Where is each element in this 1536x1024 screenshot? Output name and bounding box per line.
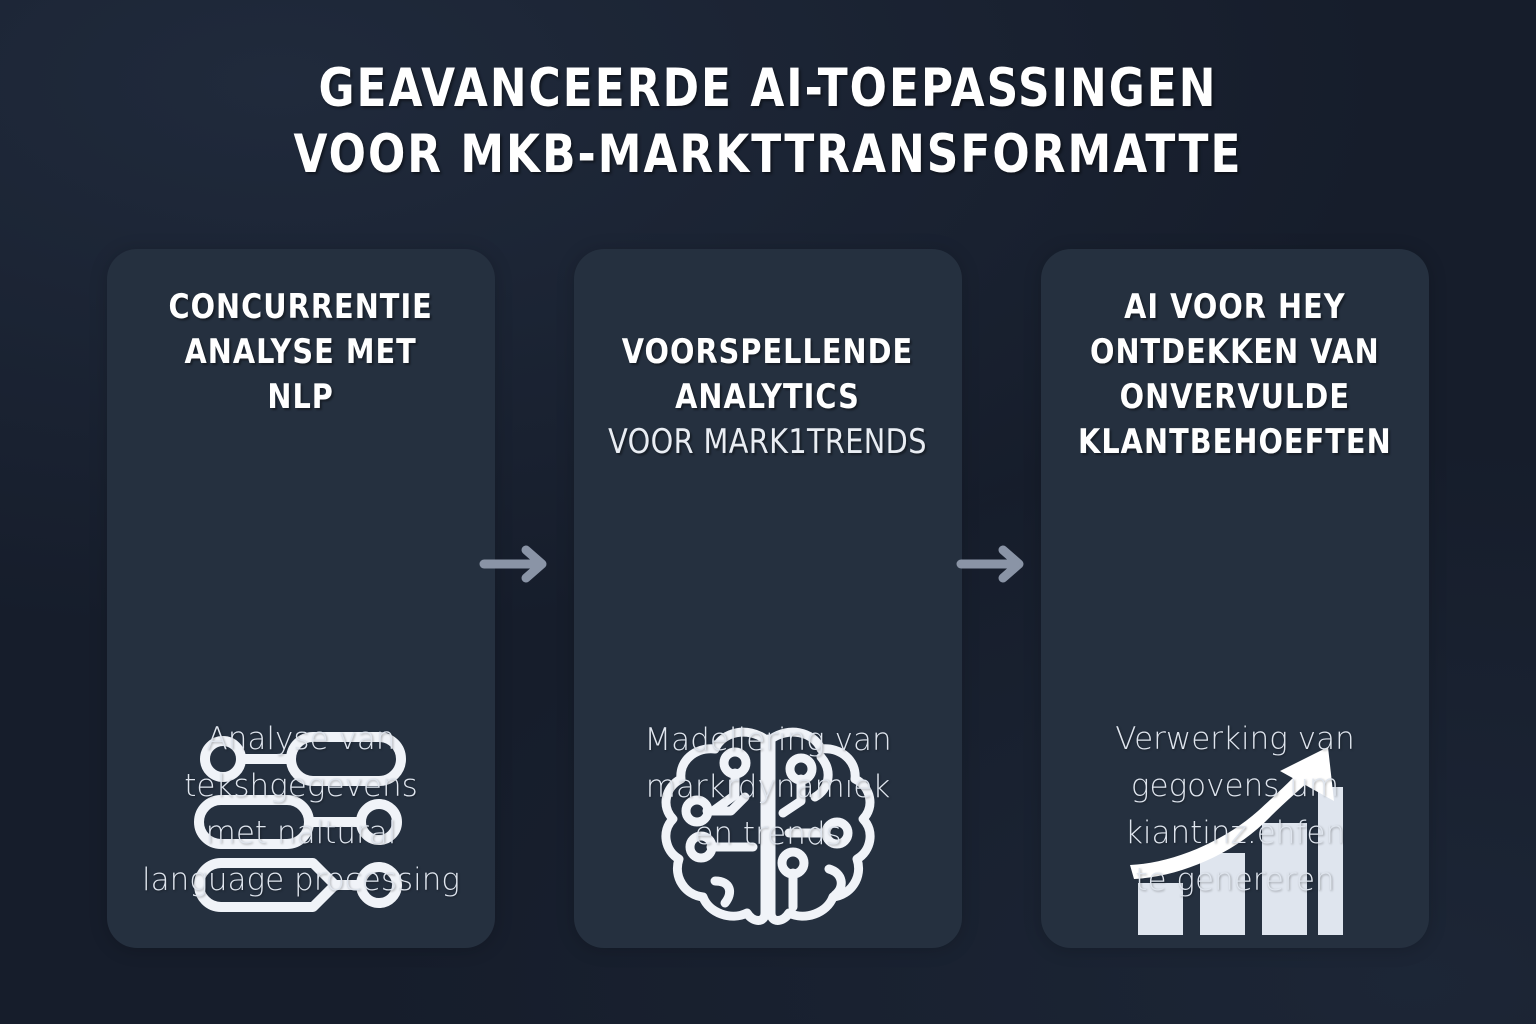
card-title: AI VOOR HEY ONTDEKKEN VAN ONVERVULDE KLA… [1078,285,1392,465]
card-title: VOORSPELLENDE ANALYTICS VOOR MARK1TRENDS [609,285,928,510]
card-voorspellende-analytics[interactable]: VOORSPELLENDE ANALYTICS VOOR MARK1TRENDS [574,249,962,948]
connector-arrow-2 [955,542,1035,586]
page-title: GEAVANCEERDE AI-TOEPASSINGEN VOOR MKB-MA… [61,56,1474,188]
card-ai-klantbehoeften[interactable]: AI VOOR HEY ONTDEKKEN VAN ONVERVULDE KLA… [1041,249,1429,948]
card-concurrentie-analyse[interactable]: CONCURRENTIE ANALYSE MET NLP [107,249,495,948]
infographic-root: GEAVANCEERDE AI-TOEPASSINGEN VOOR MKB-MA… [0,0,1536,1024]
card-title-main: VOORSPELLENDE ANALYTICS [622,332,913,417]
connector-arrow-1 [478,542,558,586]
card-row: CONCURRENTIE ANALYSE MET NLP [107,249,1429,948]
card-title: CONCURRENTIE ANALYSE MET NLP [169,285,433,420]
card-subtitle: VOOR MARK1TRENDS [609,420,928,465]
card-body-text: Analyse van tekshgegevens met naltural l… [125,716,477,904]
card-body-text: Madellering van markrdynamıek en trends [592,717,944,858]
card-body-text: Verwerking van gegovens um kiantinz.ehfe… [1059,716,1411,904]
